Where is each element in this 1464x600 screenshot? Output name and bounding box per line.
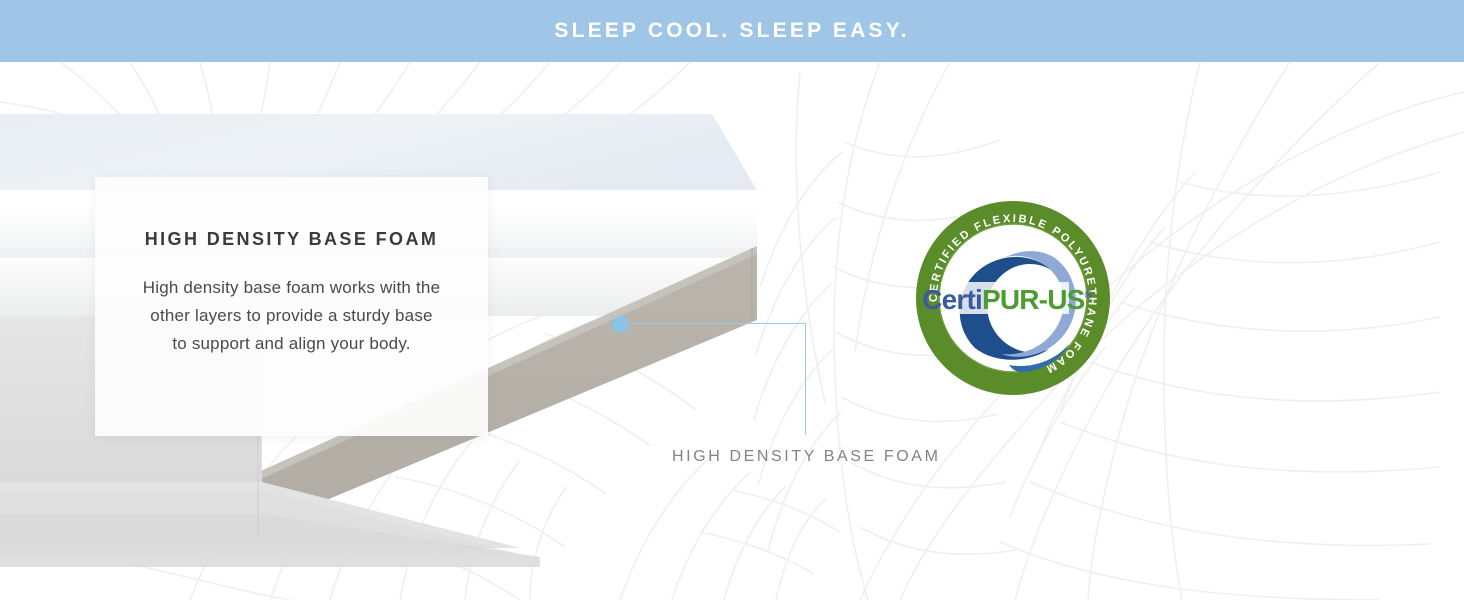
info-card: HIGH DENSITY BASE FOAM High density base…	[95, 177, 488, 436]
callout-label: HIGH DENSITY BASE FOAM	[672, 448, 941, 466]
callout-leader-line-horizontal	[628, 323, 806, 324]
info-card-body: High density base foam works with the ot…	[142, 274, 442, 358]
callout-dot-icon	[612, 316, 629, 333]
callout-leader-line-vertical	[805, 323, 806, 435]
product-feature-panel: HIGH DENSITY BASE FOAM High density base…	[0, 0, 1464, 600]
info-card-title: HIGH DENSITY BASE FOAM	[145, 229, 439, 250]
header-banner: SLEEP COOL. SLEEP EASY.	[0, 0, 1464, 62]
banner-title: SLEEP COOL. SLEEP EASY.	[554, 19, 909, 43]
certipur-us-seal-icon: CONTAINS CERTIFIED FLEXIBLE POLYURETHANE…	[913, 198, 1113, 398]
